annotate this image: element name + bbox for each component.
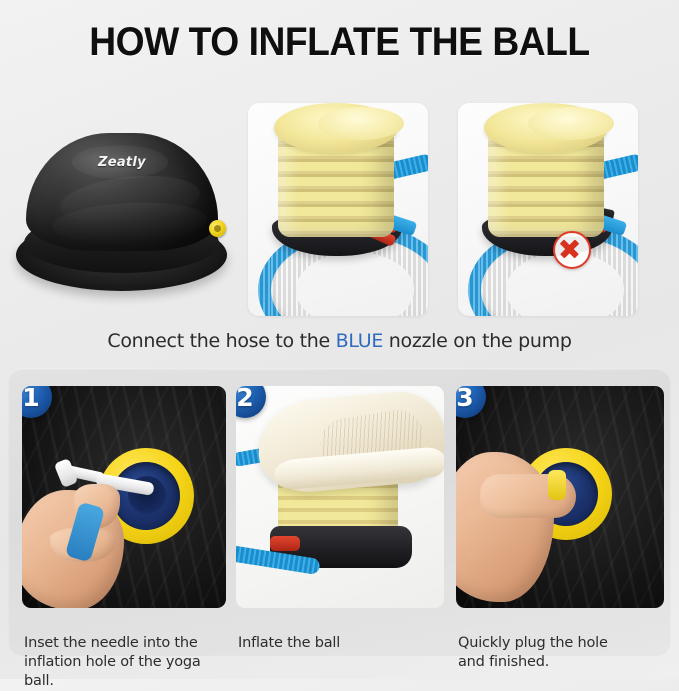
- ball-inflation-valve: [209, 220, 226, 237]
- pump-bellows-top: [484, 103, 608, 153]
- step-2-photo: 2: [236, 386, 444, 608]
- step-1-caption: Inset the needle into the inflation hole…: [24, 634, 226, 691]
- step-badge-2: 2: [236, 386, 266, 418]
- pump-photo-wrong-nozzle: [458, 103, 638, 316]
- step-2: 2 Inflate the ball: [236, 386, 444, 608]
- page-title: HOW TO INFLATE THE BALL: [24, 20, 655, 65]
- prohibition-x-icon: [553, 231, 591, 269]
- brand-logo-text: Zeatly: [98, 155, 146, 170]
- middle-caption-after: nozzle on the pump: [383, 330, 572, 352]
- step-badge-3: 3: [456, 386, 486, 418]
- step-badge-1-number: 1: [22, 386, 52, 418]
- pump-bellows-top: [274, 103, 398, 153]
- step-badge-2-number: 2: [236, 386, 266, 418]
- step-3-photo: 3: [456, 386, 664, 608]
- step-1: 1 Inset the needle into the inflation ho…: [22, 386, 226, 608]
- red-nozzle: [270, 536, 300, 551]
- product-hero-image: Zeatly: [6, 105, 238, 320]
- step-badge-3-number: 3: [456, 386, 486, 418]
- step-3-caption: Quickly plug the hole and finished.: [458, 634, 608, 672]
- ball-dome: Zeatly: [26, 133, 218, 251]
- valve-plug-stopper: [548, 470, 566, 500]
- pump-bellows-top-inner: [528, 107, 614, 140]
- middle-caption: Connect the hose to the BLUE nozzle on t…: [0, 330, 679, 352]
- middle-caption-highlight: BLUE: [336, 330, 383, 352]
- step-1-photo: 1: [22, 386, 226, 608]
- balance-ball-illustration: Zeatly: [14, 127, 229, 297]
- pump-photo-correct-nozzle: [248, 103, 428, 316]
- step-badge-1: 1: [22, 386, 52, 418]
- steps-container: 1 Inset the needle into the inflation ho…: [8, 368, 671, 656]
- pump-bellows-top-inner: [318, 107, 404, 140]
- step-3: 3 Quickly plug the hole and finished.: [456, 386, 664, 608]
- step-2-caption: Inflate the ball: [238, 634, 340, 653]
- middle-caption-before: Connect the hose to the: [107, 330, 335, 352]
- infographic-page: HOW TO INFLATE THE BALL Zeatly: [0, 0, 679, 679]
